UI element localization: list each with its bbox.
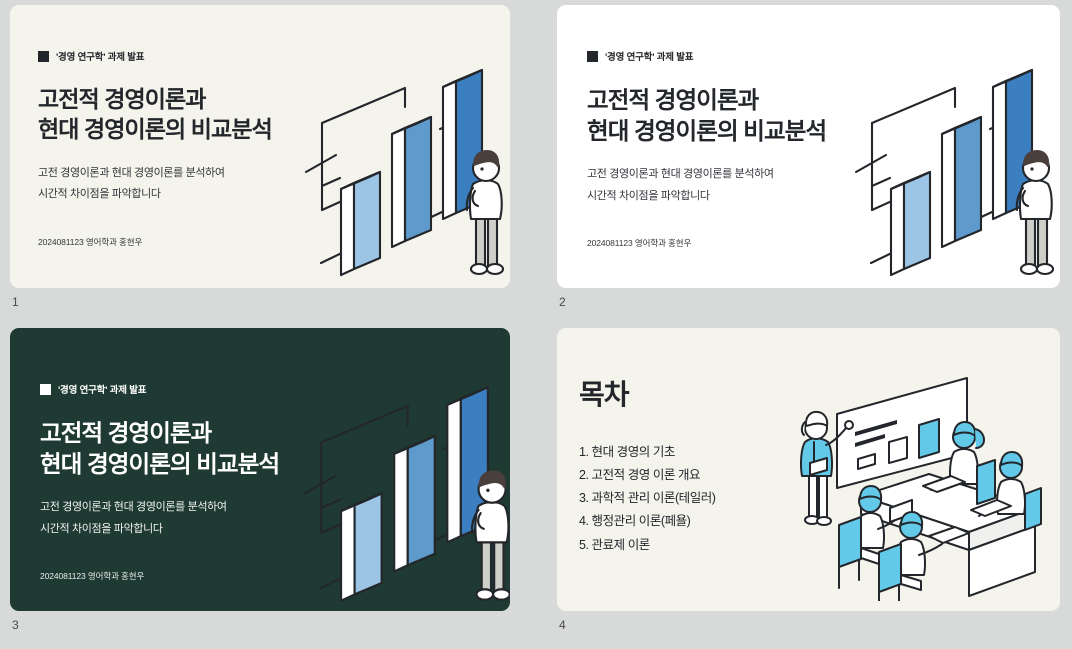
- bar-2: [392, 117, 431, 247]
- list-item: 1. 현대 경영의 기초: [579, 441, 809, 464]
- slide-title: 고전적 경영이론과 현대 경영이론의 비교분석: [38, 85, 338, 145]
- slide-thumbnail-1[interactable]: '경영 연구학' 과제 발표 고전적 경영이론과 현대 경영이론의 비교분석 고…: [10, 5, 510, 288]
- eyebrow-label: '경영 연구학' 과제 발표: [58, 382, 146, 396]
- title-block: '경영 연구학' 과제 발표 고전적 경영이론과 현대 경영이론의 비교분석 고…: [40, 382, 350, 582]
- slide-canvas-3[interactable]: '경영 연구학' 과제 발표 고전적 경영이론과 현대 경영이론의 비교분석 고…: [10, 328, 510, 611]
- agenda-block: 목차 1. 현대 경영의 기초 2. 고전적 경영 이론 개요 3. 과학적 관…: [579, 373, 809, 557]
- slide-thumbnail-4[interactable]: 목차 1. 현대 경영의 기초 2. 고전적 경영 이론 개요 3. 과학적 관…: [557, 328, 1060, 611]
- eyebrow-label: '경영 연구학' 과제 발표: [605, 49, 693, 63]
- square-bullet-icon: [587, 51, 598, 62]
- slide-number-3: 3: [12, 619, 19, 631]
- slide-subtitle: 고전 경영이론과 현대 경영이론를 분석하여 시간적 차이점을 파악합니다: [38, 163, 338, 206]
- list-item: 3. 과학적 관리 이론(테일러): [579, 487, 809, 510]
- eyebrow: '경영 연구학' 과제 발표: [40, 382, 350, 396]
- slide-canvas-1[interactable]: '경영 연구학' 과제 발표 고전적 경영이론과 현대 경영이론의 비교분석 고…: [10, 5, 510, 288]
- bar-2: [942, 117, 981, 247]
- person-figure: [467, 151, 503, 274]
- slide-number-2: 2: [559, 296, 566, 308]
- slide-byline: 2024081123 영어학과 홍현우: [38, 236, 338, 248]
- slide-subtitle: 고전 경영이론과 현대 경영이론를 분석하여 시간적 차이점을 파악합니다: [587, 164, 907, 207]
- slide-title: 고전적 경영이론과 현대 경영이론의 비교분석: [40, 418, 350, 479]
- square-bullet-icon: [38, 51, 49, 62]
- list-item: 2. 고전적 경영 이론 개요: [579, 464, 809, 487]
- list-item: 4. 행정관리 이론(페욜): [579, 510, 809, 533]
- person-figure: [472, 472, 510, 600]
- title-block: '경영 연구학' 과제 발표 고전적 경영이론과 현대 경영이론의 비교분석 고…: [587, 49, 907, 249]
- eyebrow: '경영 연구학' 과제 발표: [38, 49, 338, 63]
- list-item: 5. 관료제 이론: [579, 534, 809, 557]
- square-bullet-icon: [40, 384, 51, 395]
- slide-byline: 2024081123 영어학과 홍현우: [587, 237, 907, 249]
- isometric-meeting-room-illustration: [779, 366, 1047, 601]
- slide-title: 고전적 경영이론과 현대 경영이론의 비교분석: [587, 85, 907, 146]
- slide-deck: '경영 연구학' 과제 발표 고전적 경영이론과 현대 경영이론의 비교분석 고…: [0, 0, 1072, 649]
- agenda-heading: 목차: [579, 373, 809, 413]
- slide-thumbnail-3[interactable]: '경영 연구학' 과제 발표 고전적 경영이론과 현대 경영이론의 비교분석 고…: [10, 328, 510, 611]
- slide-byline: 2024081123 영어학과 홍현우: [40, 570, 350, 582]
- bar-3: [443, 70, 482, 219]
- slide-number-1: 1: [12, 296, 19, 308]
- slide-canvas-2[interactable]: '경영 연구학' 과제 발표 고전적 경영이론과 현대 경영이론의 비교분석 고…: [557, 5, 1060, 288]
- bar-2: [394, 436, 435, 571]
- title-block: '경영 연구학' 과제 발표 고전적 경영이론과 현대 경영이론의 비교분석 고…: [38, 49, 338, 248]
- slide-thumbnail-2[interactable]: '경영 연구학' 과제 발표 고전적 경영이론과 현대 경영이론의 비교분석 고…: [557, 5, 1060, 288]
- bar-3: [993, 70, 1032, 219]
- agenda-list: 1. 현대 경영의 기초 2. 고전적 경영 이론 개요 3. 과학적 관리 이…: [579, 441, 809, 557]
- slide-subtitle: 고전 경영이론과 현대 경영이론를 분석하여 시간적 차이점을 파악합니다: [40, 497, 350, 540]
- eyebrow-label: '경영 연구학' 과제 발표: [56, 49, 144, 63]
- slide-number-4: 4: [559, 619, 566, 631]
- eyebrow: '경영 연구학' 과제 발표: [587, 49, 907, 63]
- bar-3: [447, 387, 488, 542]
- slide-canvas-4[interactable]: 목차 1. 현대 경영의 기초 2. 고전적 경영 이론 개요 3. 과학적 관…: [557, 328, 1060, 611]
- bar-1: [341, 172, 380, 275]
- person-figure: [1017, 151, 1053, 274]
